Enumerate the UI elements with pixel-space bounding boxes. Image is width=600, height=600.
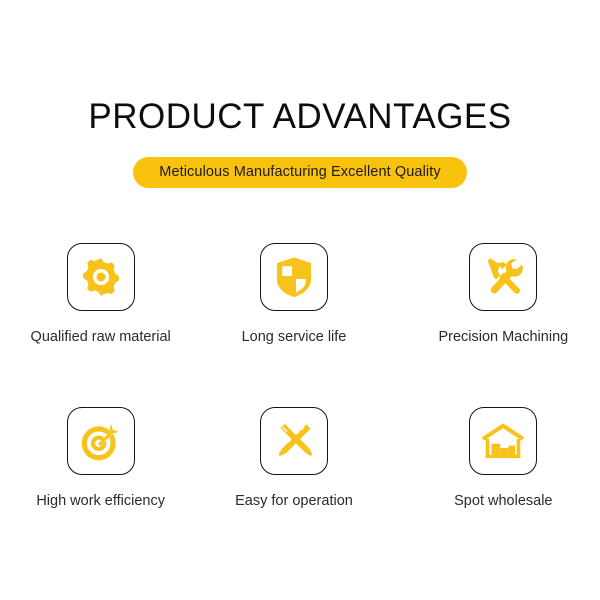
feature-row: High work efficiency — [0, 407, 600, 571]
feature-item-high-work-efficiency: High work efficiency — [0, 407, 197, 571]
target-icon — [79, 420, 122, 463]
icon-box — [260, 243, 328, 311]
feature-label: Easy for operation — [235, 492, 353, 510]
feature-item-qualified-raw-material: Qualified raw material — [0, 243, 197, 407]
feature-label: Precision Machining — [438, 328, 568, 346]
icon-box — [469, 243, 537, 311]
feature-row: Qualified raw material Long service life — [0, 243, 600, 407]
icon-box — [67, 407, 135, 475]
icon-box — [469, 407, 537, 475]
page-title: PRODUCT ADVANTAGES — [0, 96, 600, 138]
feature-item-easy-for-operation: Easy for operation — [197, 407, 390, 571]
feature-item-spot-wholesale: Spot wholesale — [391, 407, 600, 571]
feature-label: High work efficiency — [36, 492, 165, 510]
pencil-ruler-icon — [272, 420, 315, 463]
feature-label: Spot wholesale — [454, 492, 552, 510]
feature-label: Qualified raw material — [31, 328, 171, 346]
icon-box — [260, 407, 328, 475]
gear-icon — [80, 256, 122, 298]
feature-label: Long service life — [242, 328, 347, 346]
subtitle-badge: Meticulous Manufacturing Excellent Quali… — [133, 157, 466, 188]
feature-item-long-service-life: Long service life — [197, 243, 390, 407]
icon-box — [67, 243, 135, 311]
feature-item-precision-machining: Precision Machining — [391, 243, 600, 407]
warehouse-icon — [481, 421, 525, 461]
tools-icon — [482, 256, 525, 299]
product-advantages-banner: PRODUCT ADVANTAGES Meticulous Manufactur… — [0, 0, 600, 600]
subtitle-container: Meticulous Manufacturing Excellent Quali… — [0, 157, 600, 188]
shield-icon — [274, 256, 314, 298]
feature-grid: Qualified raw material Long service life — [0, 243, 600, 571]
header: PRODUCT ADVANTAGES — [0, 96, 600, 138]
